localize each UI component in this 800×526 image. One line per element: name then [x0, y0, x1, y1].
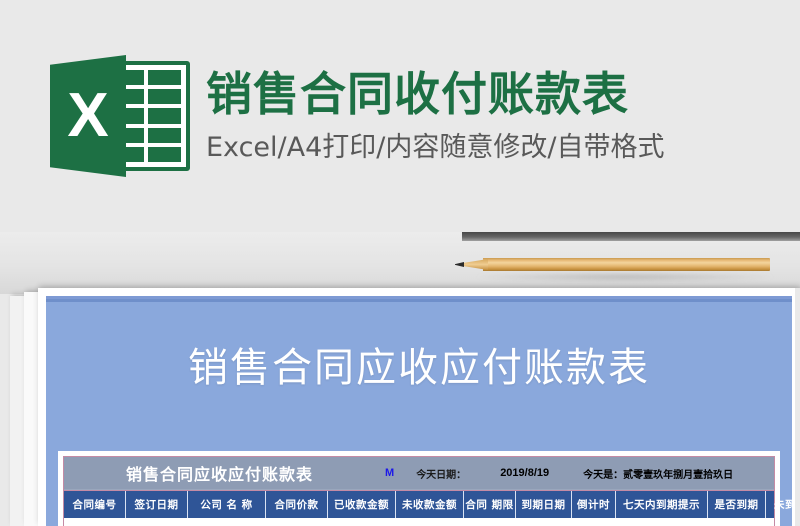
- banner-text-block: 销售合同收付账款表 Excel/A4打印/内容随意修改/自带格式: [206, 68, 664, 164]
- spreadsheet-frame: 销售合同应收应付账款表 M 今天日期： 2019/8/19 今天是：贰零壹玖年捌…: [63, 456, 775, 526]
- desk-dark-edge: [462, 232, 800, 241]
- sheet-right-gutter: [795, 288, 800, 526]
- column-header[interactable]: 是否到期: [708, 491, 766, 518]
- spreadsheet-title: 销售合同应收应付账款表: [126, 461, 313, 485]
- document-blue-panel: 销售合同应收应付账款表 销售合同应收应付账款表 M 今天日期： 2019/8/1…: [46, 296, 792, 526]
- today-date-label: 今天日期：: [416, 466, 466, 481]
- column-header[interactable]: 公司 名 称: [188, 491, 266, 518]
- pencil-icon: [455, 258, 770, 271]
- column-header[interactable]: 七天内到期提示: [616, 491, 708, 518]
- spreadsheet-marker: M: [385, 467, 394, 479]
- spreadsheet-preview: 销售合同应收应付账款表 M 今天日期： 2019/8/19 今天是：贰零壹玖年捌…: [58, 451, 780, 526]
- pencil-wood-cone: [462, 259, 488, 270]
- today-date-chinese: 今天是：贰零壹玖年捌月壹拾玖日: [583, 466, 733, 481]
- column-header[interactable]: 合同 期限: [464, 491, 516, 518]
- column-header[interactable]: 未到期金额: [766, 491, 792, 518]
- column-header[interactable]: 合同价款: [266, 491, 328, 518]
- document-sheet: 销售合同应收应付账款表 销售合同应收应付账款表 M 今天日期： 2019/8/1…: [38, 288, 800, 526]
- today-date-value: 2019/8/19: [500, 467, 549, 479]
- column-header[interactable]: 合同编号: [64, 491, 126, 518]
- banner-title: 销售合同收付账款表: [206, 68, 664, 121]
- pencil-body: [483, 258, 770, 271]
- pencil-shadow: [475, 272, 775, 282]
- spreadsheet-header-bar: 销售合同应收应付账款表 M 今天日期： 2019/8/19 今天是：贰零壹玖年捌…: [64, 457, 774, 490]
- product-banner: X 销售合同收付账款表 Excel/A4打印/内容随意修改/自带格式: [0, 0, 800, 232]
- excel-logo-icon: X: [44, 55, 192, 177]
- spreadsheet-column-header-row: 合同编号签订日期公司 名 称合同价款已收款金额未收款金额合同 期限到期日期倒计时…: [64, 490, 774, 518]
- pencil-graphite-tip: [455, 262, 464, 267]
- banner-subtitle: Excel/A4打印/内容随意修改/自带格式: [206, 125, 664, 164]
- column-header[interactable]: 已收款金额: [328, 491, 396, 518]
- column-header[interactable]: 到期日期: [516, 491, 572, 518]
- document-title: 销售合同应收应付账款表: [46, 335, 792, 393]
- column-header[interactable]: 倒计时: [572, 491, 616, 518]
- document-top-rule: [46, 299, 792, 302]
- column-header[interactable]: 未收款金额: [396, 491, 464, 518]
- excel-logo-letter: X: [50, 55, 126, 177]
- column-header[interactable]: 签订日期: [126, 491, 188, 518]
